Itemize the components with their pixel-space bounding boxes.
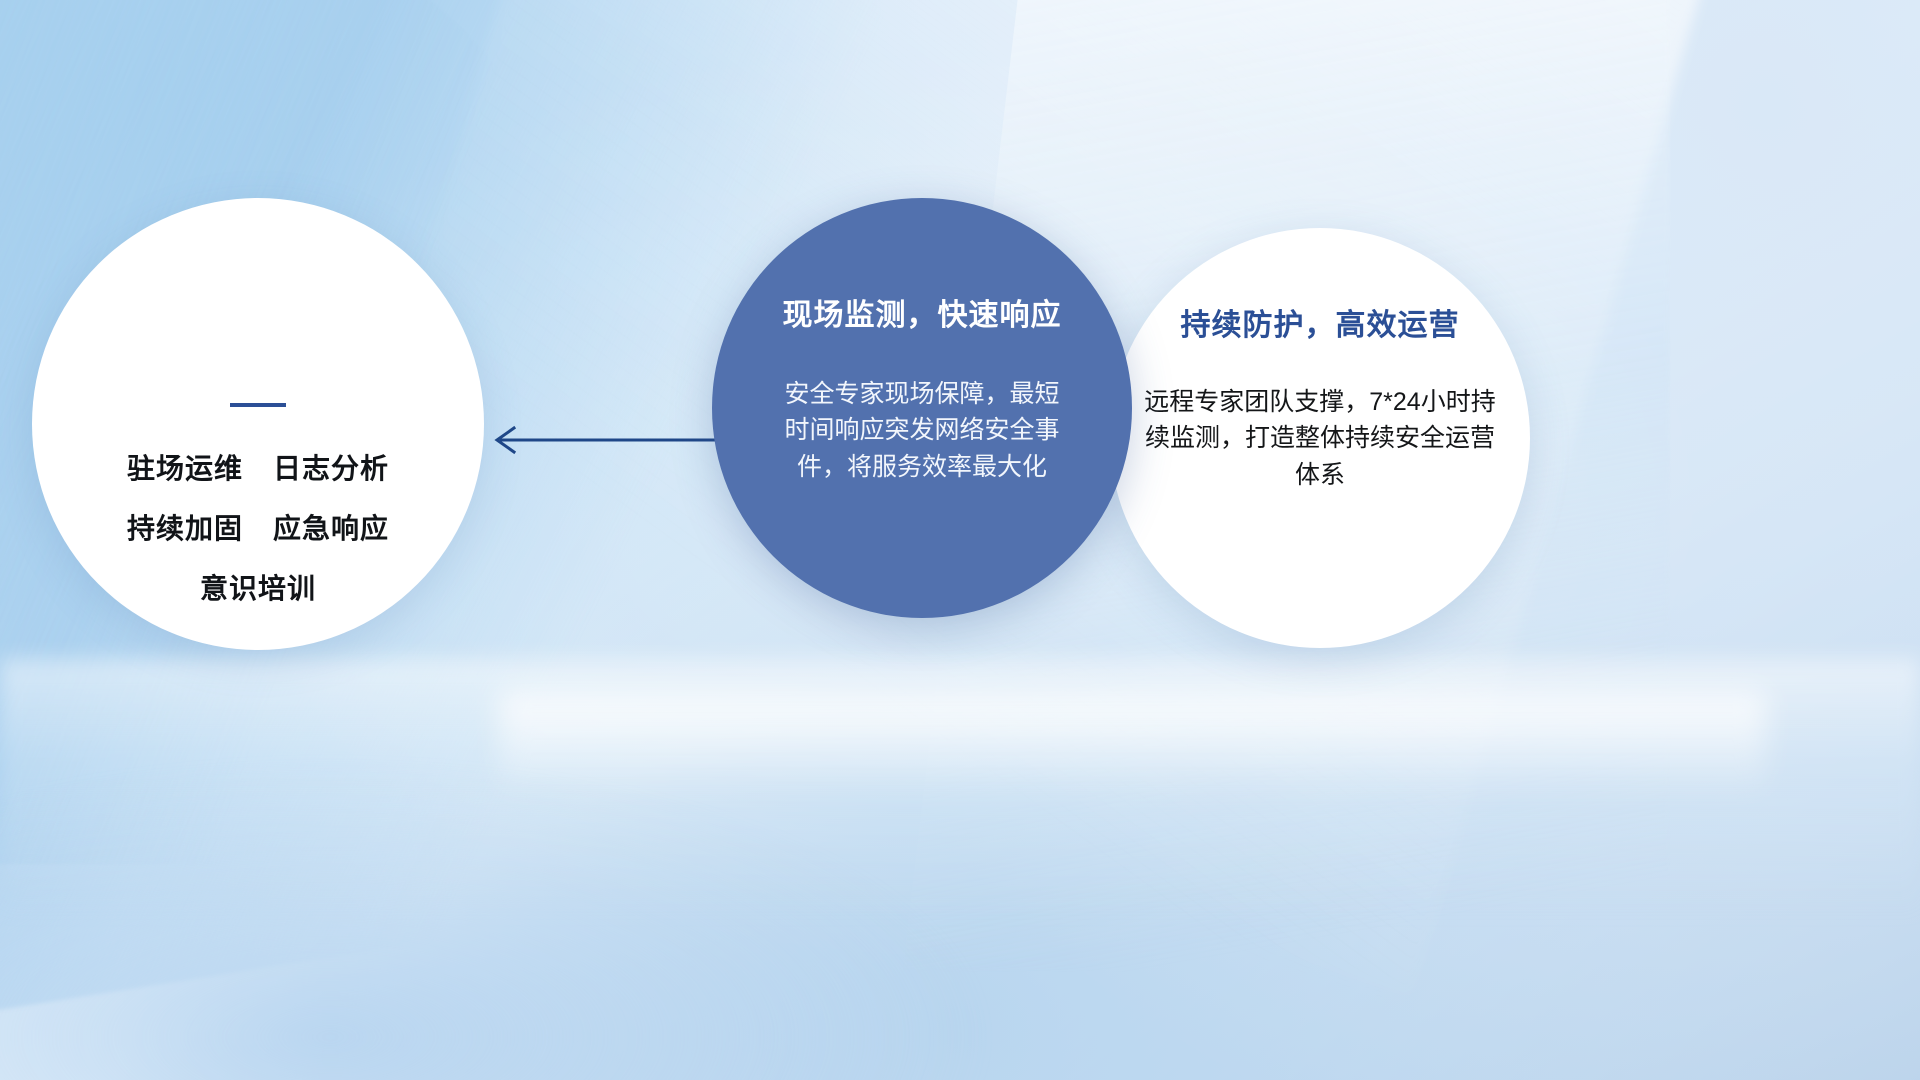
capability-row-1: 驻场运维 日志分析	[127, 447, 389, 487]
diagram-stage: 驻场运维 日志分析 持续加固 应急响应 意识培训 现场监测，快速响应 安全专家现…	[0, 0, 1920, 1080]
capability-row-3: 意识培训	[200, 567, 316, 607]
capability-item-continuous-hardening: 持续加固	[127, 507, 243, 547]
capability-list: 驻场运维 日志分析 持续加固 应急响应 意识培训	[32, 447, 484, 607]
mid-circle-body: 安全专家现场保障，最短时间响应突发网络安全事件，将服务效率最大化	[777, 376, 1067, 485]
capability-item-emergency-response: 应急响应	[273, 507, 389, 547]
capability-row-2: 持续加固 应急响应	[127, 507, 389, 547]
right-operations-circle: 持续防护，高效运营 远程专家团队支撑，7*24小时持续监测，打造整体持续安全运营…	[1110, 228, 1530, 648]
capability-item-onsite-ops: 驻场运维	[127, 447, 243, 487]
right-circle-title: 持续防护，高效运营	[1181, 300, 1460, 344]
left-pointing-arrow-icon	[480, 414, 740, 466]
divider-dash	[230, 403, 286, 407]
capability-item-awareness-training: 意识培训	[200, 567, 316, 607]
mid-monitoring-circle: 现场监测，快速响应 安全专家现场保障，最短时间响应突发网络安全事件，将服务效率最…	[712, 198, 1132, 618]
capability-item-log-analysis: 日志分析	[273, 447, 389, 487]
mid-circle-title: 现场监测，快速响应	[783, 290, 1062, 334]
left-capability-circle: 驻场运维 日志分析 持续加固 应急响应 意识培训	[32, 198, 484, 650]
right-circle-body: 远程专家团队支撑，7*24小时持续监测，打造整体持续安全运营体系	[1142, 384, 1498, 493]
